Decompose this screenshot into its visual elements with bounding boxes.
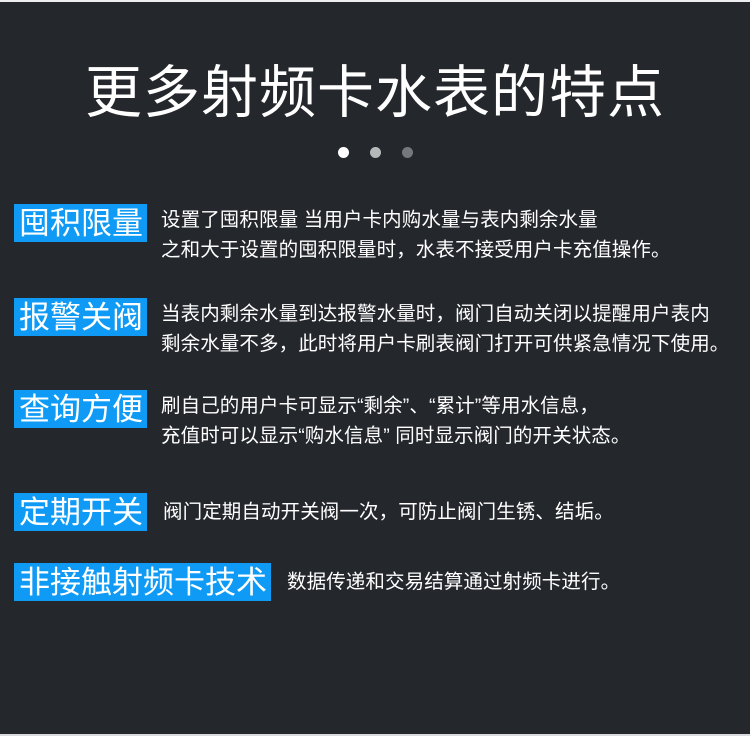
feature-badge-hoarding-limit: 囤积限量 xyxy=(14,204,147,242)
feature-description-line: 阀门定期自动开关阀一次，可防止阀门生锈、结垢。 xyxy=(163,497,746,527)
feature-description-line: 剩余水量不多，此时将用户卡刷表阀门打开可供紧急情况下使用。 xyxy=(161,329,746,359)
feature-item: 报警关阀 当表内剩余水量到达报警水量时，阀门自动关闭以提醒用户表内 剩余水量不多… xyxy=(14,298,746,359)
feature-description: 当表内剩余水量到达报警水量时，阀门自动关闭以提醒用户表内 剩余水量不多，此时将用… xyxy=(147,298,746,359)
feature-description-line: 之和大于设置的囤积限量时，水表不接受用户卡充值操作。 xyxy=(161,235,746,265)
feature-description-line: 设置了囤积限量 当用户卡内购水量与表内剩余水量 xyxy=(161,205,746,235)
page-header: 更多射频卡水表的特点 xyxy=(0,2,750,158)
feature-badge-easy-query: 查询方便 xyxy=(14,390,147,428)
feature-badge-periodic-switch: 定期开关 xyxy=(14,493,147,531)
feature-description-line: 当表内剩余水量到达报警水量时，阀门自动关闭以提醒用户表内 xyxy=(161,299,746,329)
carousel-dot-3[interactable] xyxy=(402,147,413,158)
feature-description-line: 刷自己的用户卡可显示“剩余”、“累计”等用水信息， xyxy=(161,391,746,421)
feature-item: 定期开关 阀门定期自动开关阀一次，可防止阀门生锈、结垢。 xyxy=(14,493,746,531)
feature-list: 囤积限量 设置了囤积限量 当用户卡内购水量与表内剩余水量 之和大于设置的囤积限量… xyxy=(0,204,750,601)
feature-badge-alarm-valve-close: 报警关阀 xyxy=(14,298,147,336)
top-edge-divider xyxy=(0,0,750,2)
carousel-dot-1[interactable] xyxy=(338,147,349,158)
feature-description: 设置了囤积限量 当用户卡内购水量与表内剩余水量 之和大于设置的囤积限量时，水表不… xyxy=(147,204,746,265)
feature-description-line: 数据传递和交易结算通过射频卡进行。 xyxy=(287,567,746,597)
feature-description: 刷自己的用户卡可显示“剩余”、“累计”等用水信息， 充值时可以显示“购水信息” … xyxy=(147,390,746,451)
carousel-dot-2[interactable] xyxy=(370,147,381,158)
feature-item: 非接触射频卡技术 数据传递和交易结算通过射频卡进行。 xyxy=(14,563,746,601)
feature-badge-contactless-rf-card: 非接触射频卡技术 xyxy=(14,563,271,601)
feature-description: 数据传递和交易结算通过射频卡进行。 xyxy=(271,567,746,597)
feature-item: 囤积限量 设置了囤积限量 当用户卡内购水量与表内剩余水量 之和大于设置的囤积限量… xyxy=(14,204,746,265)
page-title: 更多射频卡水表的特点 xyxy=(0,60,750,126)
feature-description: 阀门定期自动开关阀一次，可防止阀门生锈、结垢。 xyxy=(147,497,746,527)
feature-item: 查询方便 刷自己的用户卡可显示“剩余”、“累计”等用水信息， 充值时可以显示“购… xyxy=(14,390,746,451)
feature-description-line: 充值时可以显示“购水信息” 同时显示阀门的开关状态。 xyxy=(161,421,746,451)
carousel-dots[interactable] xyxy=(0,146,750,158)
feature-page: 更多射频卡水表的特点 囤积限量 设置了囤积限量 当用户卡内购水量与表内剩余水量 … xyxy=(0,0,750,736)
